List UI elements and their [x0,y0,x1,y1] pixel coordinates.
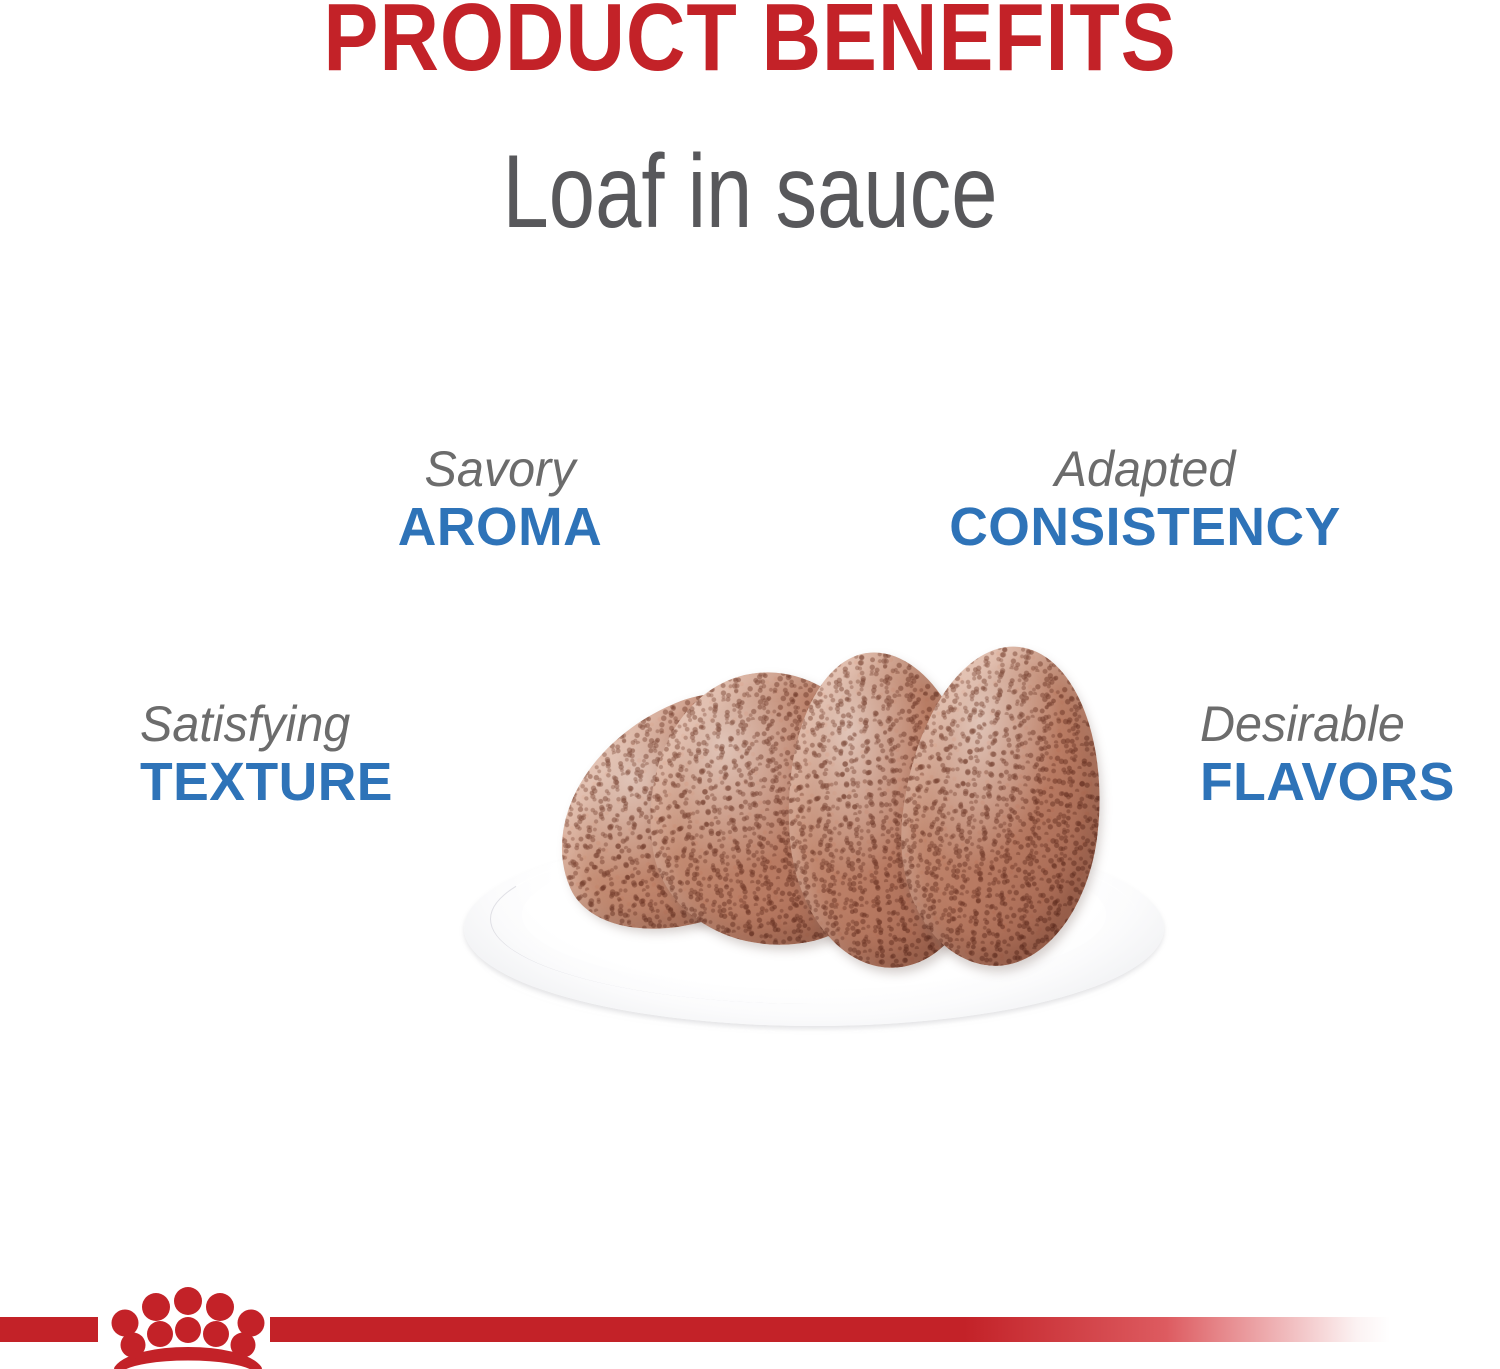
royal-canin-crown-logo [96,1286,274,1369]
benefit-consistency-adjective: Adapted [907,442,1382,496]
page-subtitle: Loaf in sauce [150,138,1350,247]
crown-arc-inner [120,1357,256,1369]
benefit-consistency-noun: CONSISTENCY [902,496,1387,560]
benefit-consistency: Adapted CONSISTENCY [900,442,1390,560]
benefit-aroma: Savory AROMA [330,442,670,560]
benefit-aroma-adjective: Savory [335,442,665,496]
benefit-texture-noun: TEXTURE [140,751,467,815]
benefit-flavors-adjective: Desirable [1200,697,1500,751]
benefit-texture: Satisfying TEXTURE [140,697,470,815]
benefit-texture-adjective: Satisfying [140,697,460,751]
page-title: PRODUCT BENEFITS [105,0,1395,89]
footer-rule-left [0,1317,98,1342]
product-benefits-panel: PRODUCT BENEFITS Loaf in sauce Savory AR… [0,0,1500,1369]
benefit-flavors-noun: FLAVORS [1200,751,1500,815]
loaf-slices [452,628,1174,1030]
benefit-aroma-noun: AROMA [332,496,669,560]
footer [0,1286,1500,1369]
product-food-image [452,628,1174,1030]
crown-icon [96,1286,274,1369]
footer-rule-right [270,1317,1390,1342]
benefit-flavors: Desirable FLAVORS [1200,697,1500,815]
